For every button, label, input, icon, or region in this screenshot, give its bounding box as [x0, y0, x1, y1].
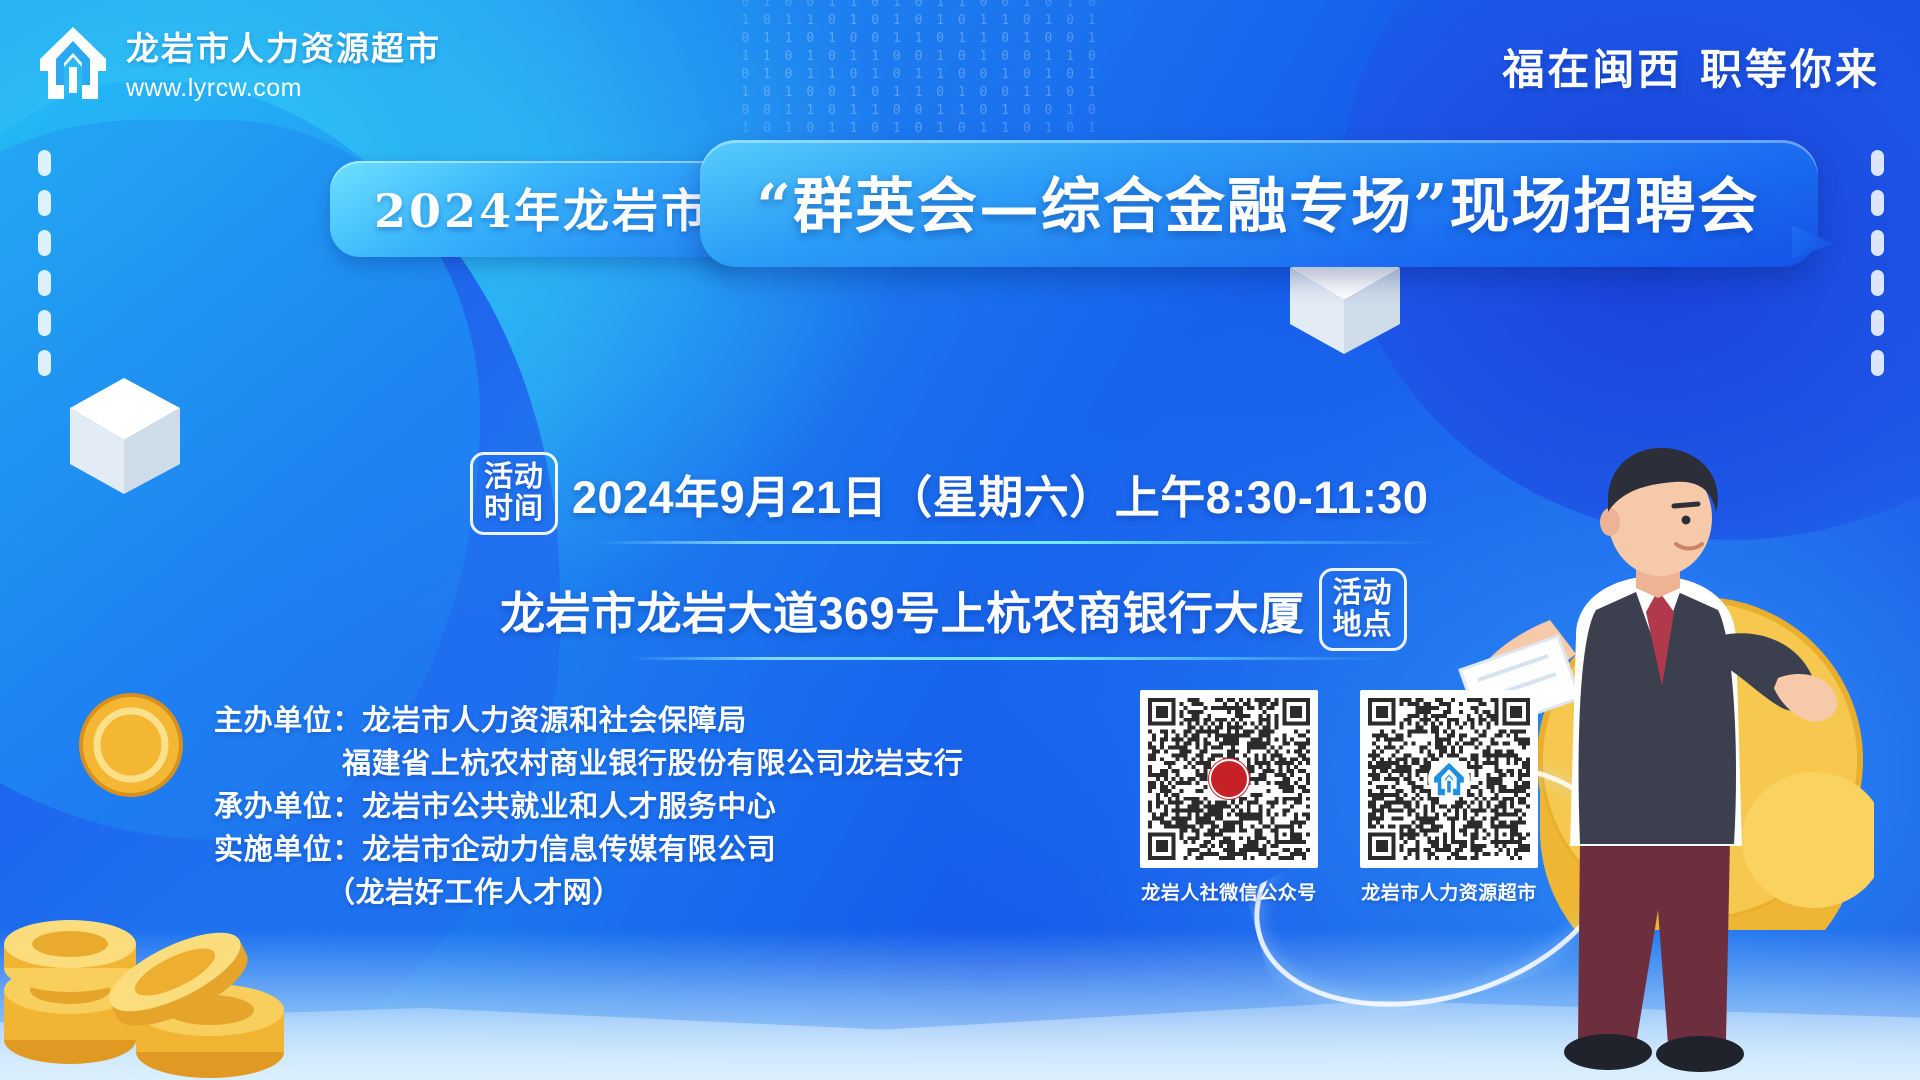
qr-code-group: 龙岩人社微信公众号 龙岩市人力资源超市 — [1140, 690, 1538, 905]
qr-box[interactable] — [1360, 690, 1538, 868]
event-time-row: 活动 时间 2024年9月21日（星期六）上午8:30-11:30 — [470, 452, 1480, 535]
event-place-tag-line1: 活动 — [1333, 577, 1393, 609]
organizer-line: 主办单位：龙岩市人力资源和社会保障局 — [214, 700, 964, 743]
qr-box[interactable] — [1140, 690, 1318, 868]
header-slogan: 福在闽西 职等你来 — [1502, 36, 1880, 97]
dot-rail-left — [38, 150, 51, 376]
title-year-text: 2024年龙岩市 — [374, 184, 710, 238]
qr-item-wechat[interactable]: 龙岩人社微信公众号 — [1140, 690, 1318, 905]
event-info: 活动 时间 2024年9月21日（星期六）上午8:30-11:30 龙岩市龙岩大… — [470, 452, 1480, 660]
decorative-coin-single — [76, 690, 186, 800]
organizer-block: 主办单位：龙岩市人力资源和社会保障局 福建省上杭农村商业银行股份有限公司龙岩支行… — [214, 700, 964, 915]
title-year-pill: 2024年龙岩市 — [330, 161, 754, 257]
logo-name: 龙岩市人力资源超市 — [126, 22, 441, 70]
organizer-line: 实施单位：龙岩市企动力信息传媒有限公司 — [214, 829, 964, 872]
poster-canvas: 0 1 0 0 1 1 0 1 0 1 1 0 0 1 0 1 0 1 0 1 … — [0, 0, 1920, 1080]
event-time-tag-line2: 时间 — [484, 493, 544, 525]
event-place-value: 龙岩市龙岩大道369号上杭农商银行大厦 — [500, 577, 1305, 642]
qr-caption: 龙岩市人力资源超市 — [1361, 878, 1537, 905]
decorative-cube-left — [60, 370, 190, 500]
arrow-building-logo-icon — [1428, 758, 1470, 800]
event-place-underline — [630, 657, 1390, 660]
organizer-line: 福建省上杭农村商业银行股份有限公司龙岩支行 — [214, 743, 964, 786]
event-place-row: 龙岩市龙岩大道369号上杭农商银行大厦 活动 地点 — [470, 568, 1480, 651]
title-main-text: “群英会—综合金融专场”现场招聘会 — [756, 172, 1759, 242]
red-seal-icon — [1208, 758, 1250, 800]
qr-item-supermarket[interactable]: 龙岩市人力资源超市 — [1360, 690, 1538, 905]
arrow-building-logo-icon — [36, 23, 110, 103]
site-logo[interactable]: 龙岩市人力资源超市 www.lyrcw.com — [36, 22, 441, 103]
event-place-tag: 活动 地点 — [1319, 568, 1407, 651]
qr-caption: 龙岩人社微信公众号 — [1141, 878, 1317, 905]
logo-url: www.lyrcw.com — [126, 74, 441, 103]
event-time-value: 2024年9月21日（星期六）上午8:30-11:30 — [572, 461, 1428, 526]
dot-rail-right — [1871, 150, 1884, 376]
organizer-line: （龙岩好工作人才网） — [214, 872, 964, 915]
organizer-line: 承办单位：龙岩市公共就业和人才服务中心 — [214, 786, 964, 829]
event-place-tag-line2: 地点 — [1333, 609, 1393, 641]
event-time-tag-line1: 活动 — [484, 461, 544, 493]
title-block: 2024年龙岩市 “群英会—综合金融专场”现场招聘会 — [330, 150, 1818, 267]
title-main-bar: “群英会—综合金融专场”现场招聘会 — [700, 140, 1817, 267]
event-time-underline — [598, 541, 1438, 544]
event-time-tag: 活动 时间 — [470, 452, 558, 535]
